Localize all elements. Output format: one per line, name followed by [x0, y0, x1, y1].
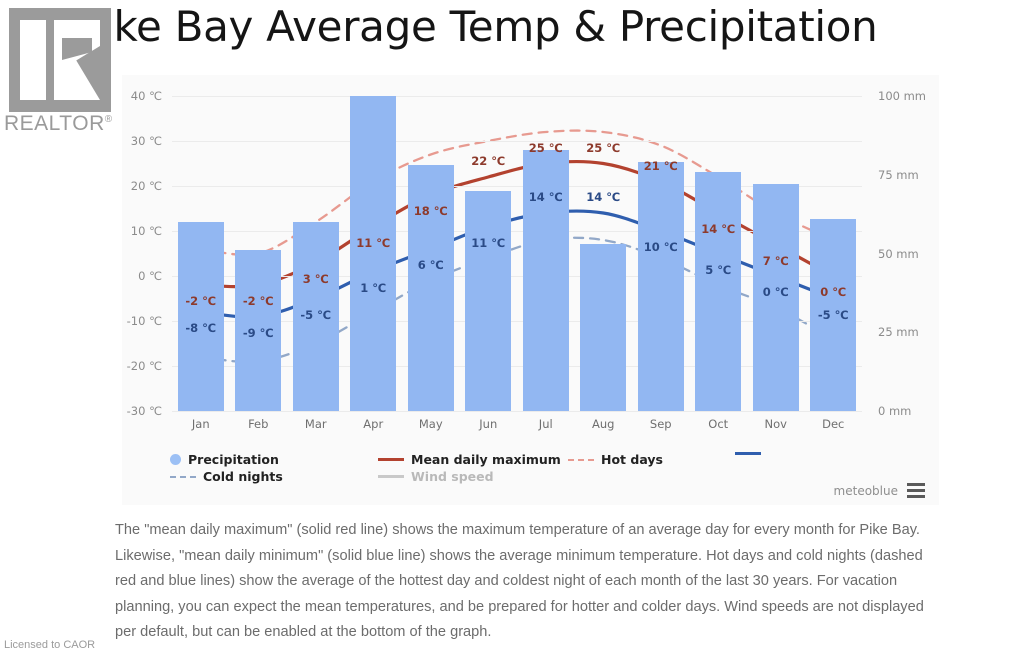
- hamburger-menu-icon[interactable]: [907, 483, 925, 498]
- y-axis-tick-left: 20 ℃: [131, 179, 162, 193]
- gridline: [172, 96, 862, 97]
- y-axis-tick-left: 30 ℃: [131, 134, 162, 148]
- precipitation-bar: [523, 150, 569, 411]
- y-axis-tick-left: 10 ℃: [131, 224, 162, 238]
- chart-description: The "mean daily maximum" (solid red line…: [115, 518, 935, 646]
- meteoblue-wordmark: meteoblue: [834, 484, 898, 498]
- legend-label-hot-days: Hot days: [601, 452, 663, 467]
- y-axis-tick-right: 100 mm: [878, 89, 926, 103]
- x-axis-tick: Apr: [363, 417, 383, 431]
- precipitation-bar: [178, 222, 224, 411]
- y-axis-tick-right: 50 mm: [878, 247, 919, 261]
- gridline: [172, 411, 862, 412]
- precipitation-bar: [753, 184, 799, 411]
- precipitation-bar: [293, 222, 339, 411]
- realtor-wordmark: REALTOR®: [4, 112, 128, 136]
- precipitation-bar: [408, 165, 454, 411]
- x-axis-tick: Jan: [192, 417, 210, 431]
- legend-item-precipitation[interactable]: Precipitation: [170, 452, 279, 467]
- x-axis-tick: Feb: [248, 417, 268, 431]
- precipitation-bar: [235, 250, 281, 411]
- x-axis-tick: Mar: [305, 417, 327, 431]
- y-axis-tick-right: 0 mm: [878, 404, 911, 418]
- x-axis-tick: May: [419, 417, 443, 431]
- legend-item-wind-speed[interactable]: Wind speed: [378, 469, 494, 484]
- precipitation-bar: [810, 219, 856, 411]
- y-axis-tick-left: -10 ℃: [127, 314, 162, 328]
- hot-days-swatch-icon: [568, 459, 594, 461]
- plot-area: 40 ℃30 ℃20 ℃10 ℃0 ℃-10 ℃-20 ℃-30 ℃100 mm…: [172, 96, 862, 411]
- precipitation-bar: [638, 162, 684, 411]
- y-axis-tick-left: -20 ℃: [127, 359, 162, 373]
- y-axis-tick-left: 40 ℃: [131, 89, 162, 103]
- realtor-r-logo-icon: [9, 8, 111, 112]
- mean-min-swatch-icon: [735, 452, 761, 455]
- precipitation-swatch-icon: [170, 454, 181, 465]
- legend-label-precipitation: Precipitation: [188, 452, 279, 467]
- legend-item-hot-days[interactable]: Hot days: [568, 452, 663, 467]
- legend-label-mean-daily-maximum: Mean daily maximum: [411, 452, 561, 467]
- legend-item-mean-daily-minimum[interactable]: [735, 452, 768, 455]
- meteoblue-footer: meteoblue: [834, 483, 925, 498]
- mean-max-swatch-icon: [378, 458, 404, 461]
- precipitation-bar: [695, 172, 741, 411]
- y-axis-tick-left: 0 ℃: [138, 269, 162, 283]
- y-axis-tick-left: -30 ℃: [127, 404, 162, 418]
- weather-chart: 40 ℃30 ℃20 ℃10 ℃0 ℃-10 ℃-20 ℃-30 ℃100 mm…: [122, 75, 939, 505]
- realtor-watermark: REALTOR®: [4, 4, 114, 139]
- precipitation-bar: [350, 96, 396, 411]
- wind-speed-swatch-icon: [378, 475, 404, 478]
- y-axis-tick-right: 25 mm: [878, 325, 919, 339]
- legend-label-wind-speed: Wind speed: [411, 469, 494, 484]
- x-axis-tick: Nov: [765, 417, 787, 431]
- x-axis-tick: Jun: [479, 417, 497, 431]
- x-axis-tick: Dec: [822, 417, 844, 431]
- legend-item-cold-nights[interactable]: Cold nights: [170, 469, 283, 484]
- legend-item-mean-daily-maximum[interactable]: Mean daily maximum: [378, 452, 561, 467]
- precipitation-bar: [465, 191, 511, 412]
- screenshot-root: REALTOR® Pike Bay Average Temp & Precipi…: [0, 0, 1024, 655]
- chart-legend: Precipitation Mean daily maximum Hot day…: [170, 452, 930, 486]
- page-title: Pike Bay Average Temp & Precipitation: [78, 2, 978, 51]
- cold-nights-swatch-icon: [170, 476, 196, 478]
- x-axis-tick: Jul: [539, 417, 553, 431]
- gridline: [172, 141, 862, 142]
- precipitation-bar: [580, 244, 626, 411]
- y-axis-tick-right: 75 mm: [878, 168, 919, 182]
- x-axis-tick: Oct: [708, 417, 728, 431]
- license-text: Licensed to CAOR: [4, 639, 95, 651]
- legend-label-cold-nights: Cold nights: [203, 469, 283, 484]
- x-axis-tick: Aug: [592, 417, 614, 431]
- x-axis-tick: Sep: [650, 417, 672, 431]
